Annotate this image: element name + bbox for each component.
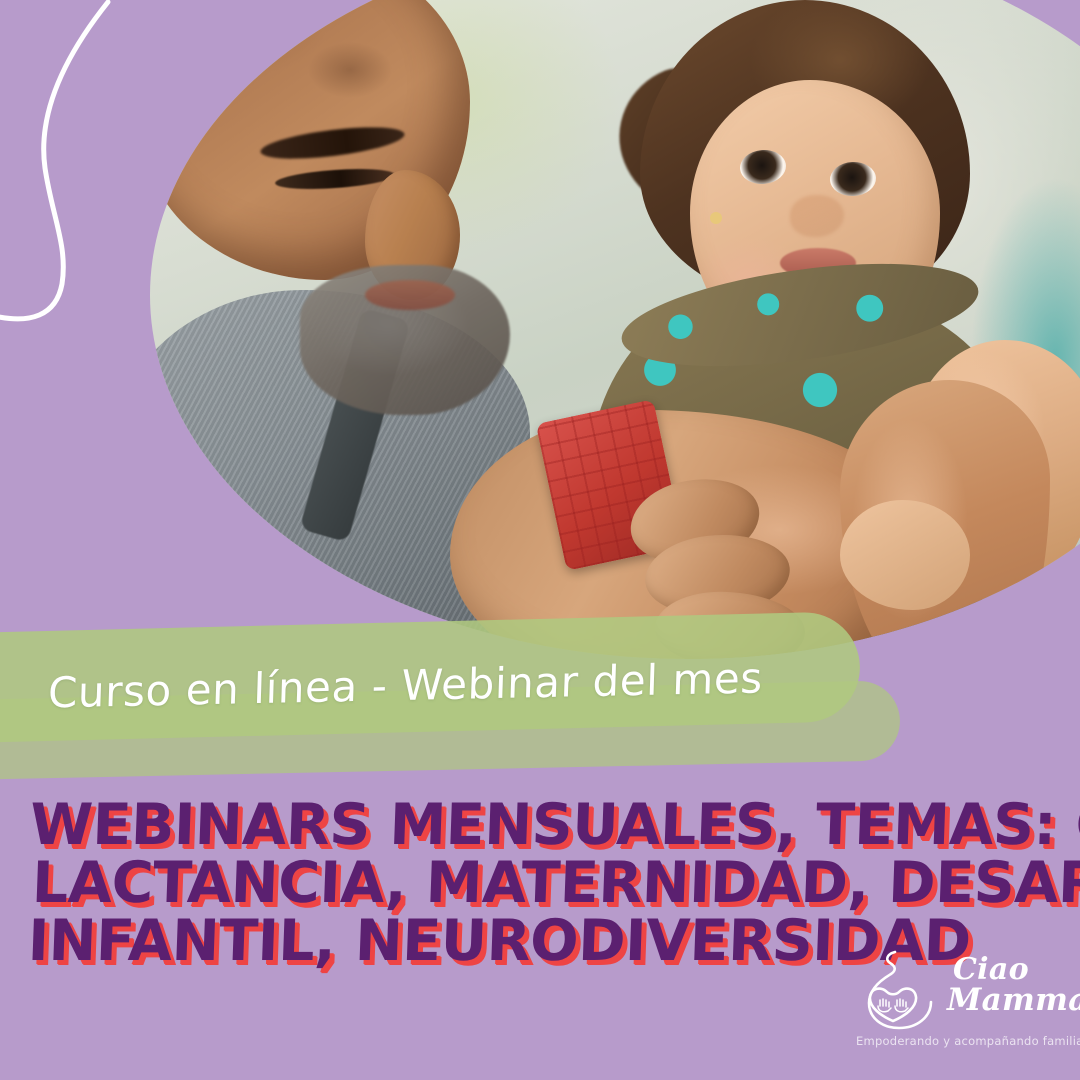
- poster-canvas: Curso en línea - Webinar del mes Webinar…: [0, 0, 1080, 1080]
- logo-word-line-2: Mamma!: [947, 985, 1072, 1016]
- headline: Webinars mensuales, temas: crianza, lact…: [25, 796, 1051, 970]
- headline-line-2: lactancia, maternidad, desarrollo: [31, 854, 1049, 912]
- headline-line-1: Webinars mensuales, temas: crianza,: [29, 796, 1051, 854]
- logo-tagline: Empoderando y acompañando familias: [856, 1034, 1070, 1048]
- man-lips: [365, 280, 455, 310]
- brand-logo: Ciao Mamma! Empoderando y acompañando fa…: [855, 948, 1070, 1058]
- pregnant-belly-heart-hands-icon: [855, 948, 950, 1033]
- hero-photo: [150, 0, 1080, 680]
- logo-wordmark: Ciao Mamma!: [947, 954, 1072, 1016]
- baby-earring: [710, 212, 722, 224]
- logo-word-line-1: Ciao: [953, 954, 1072, 985]
- photo-background: [150, 0, 1080, 680]
